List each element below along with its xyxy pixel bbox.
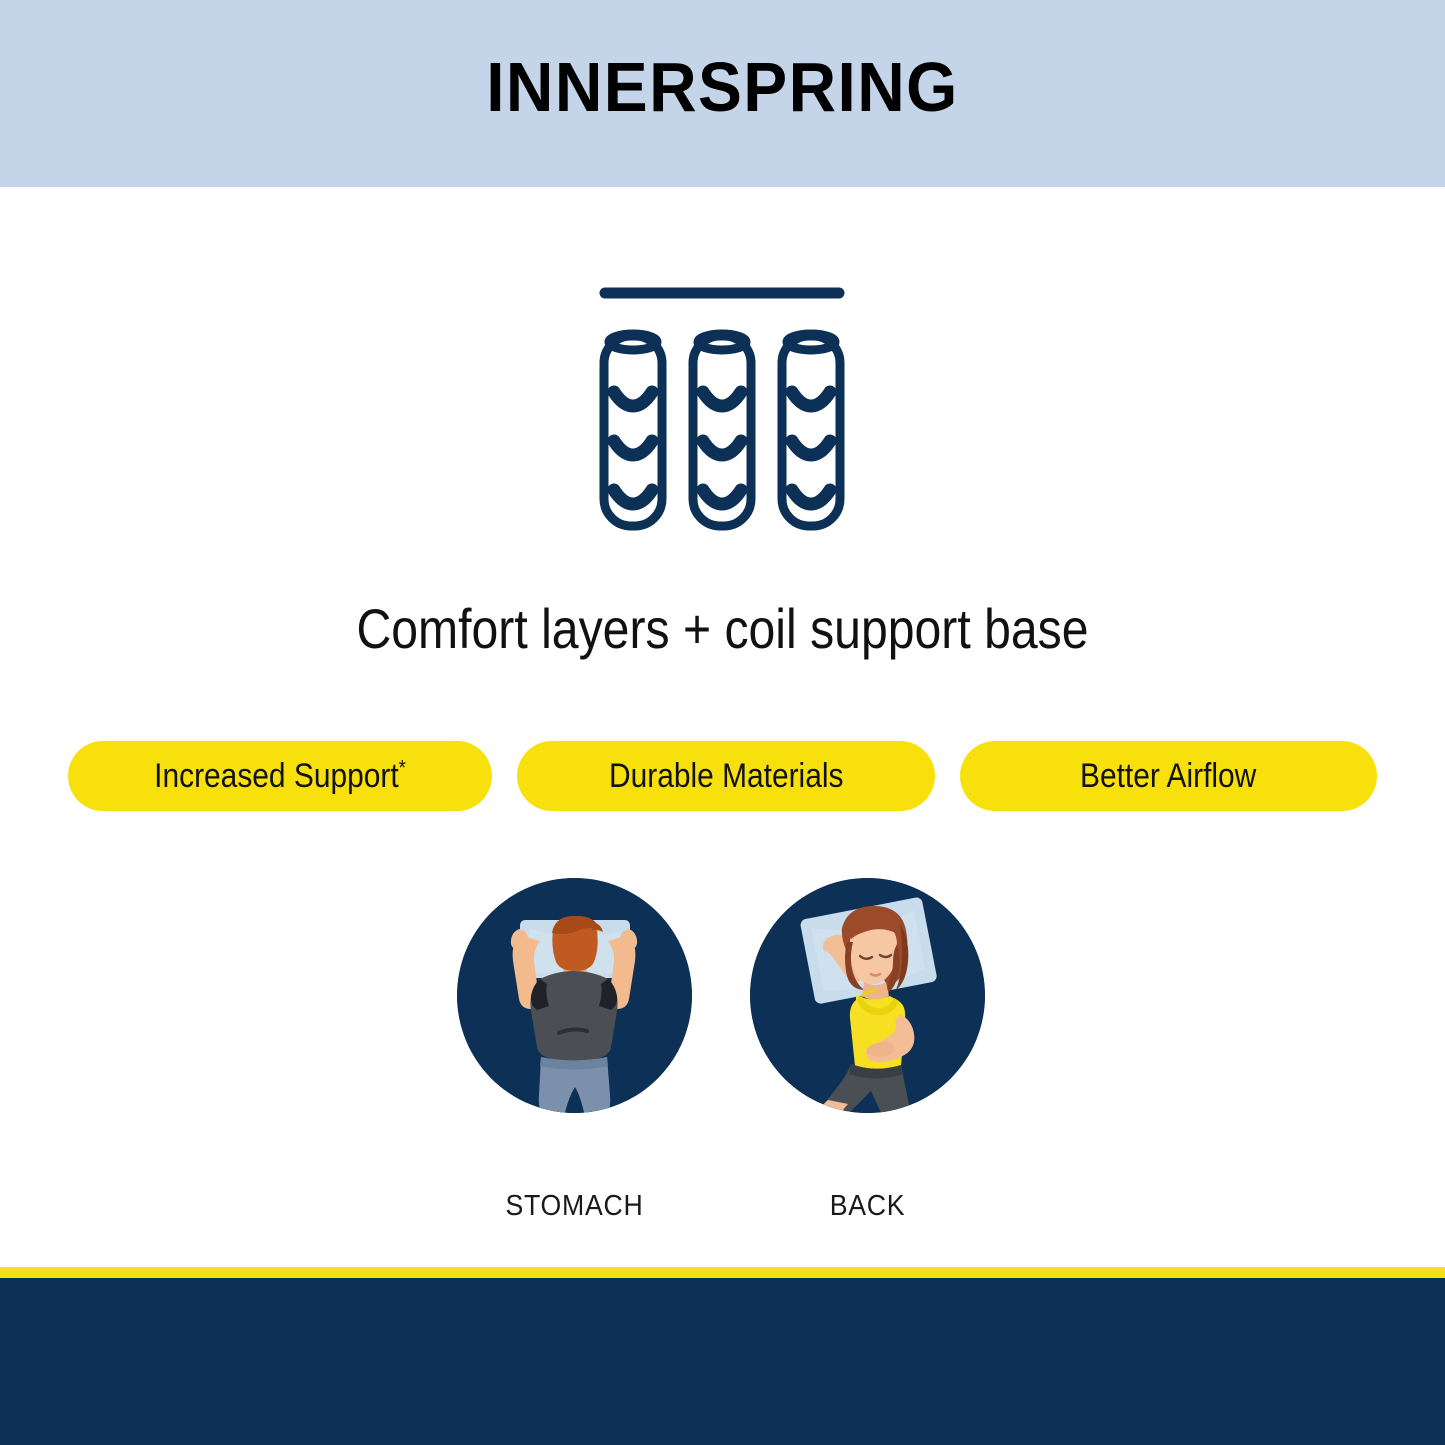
feature-pill-increased-support[interactable]: Increased Support* [68, 741, 492, 811]
feature-pill-label: Durable Materials [609, 757, 843, 795]
tagline: Comfort layers + coil support base [101, 596, 1344, 662]
sleeper-label-stomach: STOMACH [466, 1190, 682, 1223]
sleeper-label-back: BACK [759, 1190, 975, 1223]
innerspring-coils-icon [592, 280, 852, 540]
feature-pill-better-airflow[interactable]: Better Airflow [960, 741, 1377, 811]
footer-band: *Especially if heavier. Serta ® [0, 1278, 1445, 1445]
footer-accent-bar [0, 1267, 1445, 1278]
page-title: INNERSPRING [43, 52, 1401, 122]
feature-pill-label: Better Airflow [1080, 757, 1256, 795]
sleeper-back [750, 878, 985, 1113]
feature-pill-label: Increased Support [154, 757, 399, 795]
innerspring-infographic: INNERSPRING [0, 0, 1445, 1445]
feature-pill-durable-materials[interactable]: Durable Materials [517, 741, 935, 811]
sleeper-positions-row [0, 878, 1445, 1128]
stomach-sleeper-illustration [457, 878, 692, 1113]
sleeper-label-row: STOMACH BACK [0, 1190, 1445, 1230]
back-sleeper-illustration [750, 878, 985, 1113]
footnote-marker: * [399, 756, 406, 779]
feature-pill-row: Increased Support* Durable Materials Bet… [68, 741, 1377, 811]
sleeper-stomach [457, 878, 692, 1113]
